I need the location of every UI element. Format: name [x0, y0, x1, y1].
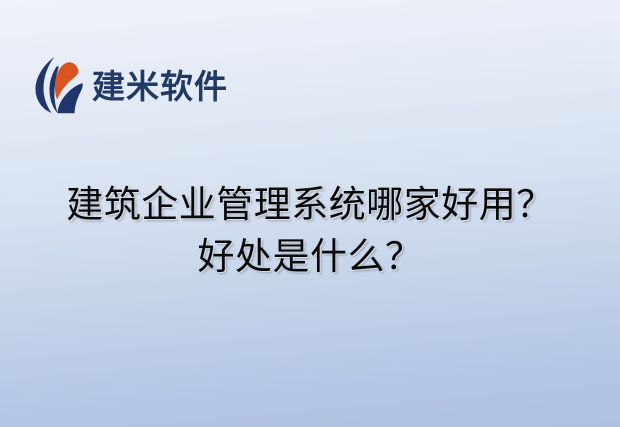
- brand-lockup: 建米软件: [34, 55, 228, 115]
- jianmi-leaf-logo-icon: [34, 56, 84, 114]
- page-title-line-1: 建筑企业管理系统哪家好用？: [0, 180, 620, 232]
- page-title: 建筑企业管理系统哪家好用？ 好处是什么？: [0, 180, 620, 284]
- page-title-line-2: 好处是什么？: [0, 232, 620, 284]
- brand-name: 建米软件: [92, 70, 228, 103]
- slide-canvas: 建米软件 建筑企业管理系统哪家好用？ 好处是什么？: [0, 0, 620, 427]
